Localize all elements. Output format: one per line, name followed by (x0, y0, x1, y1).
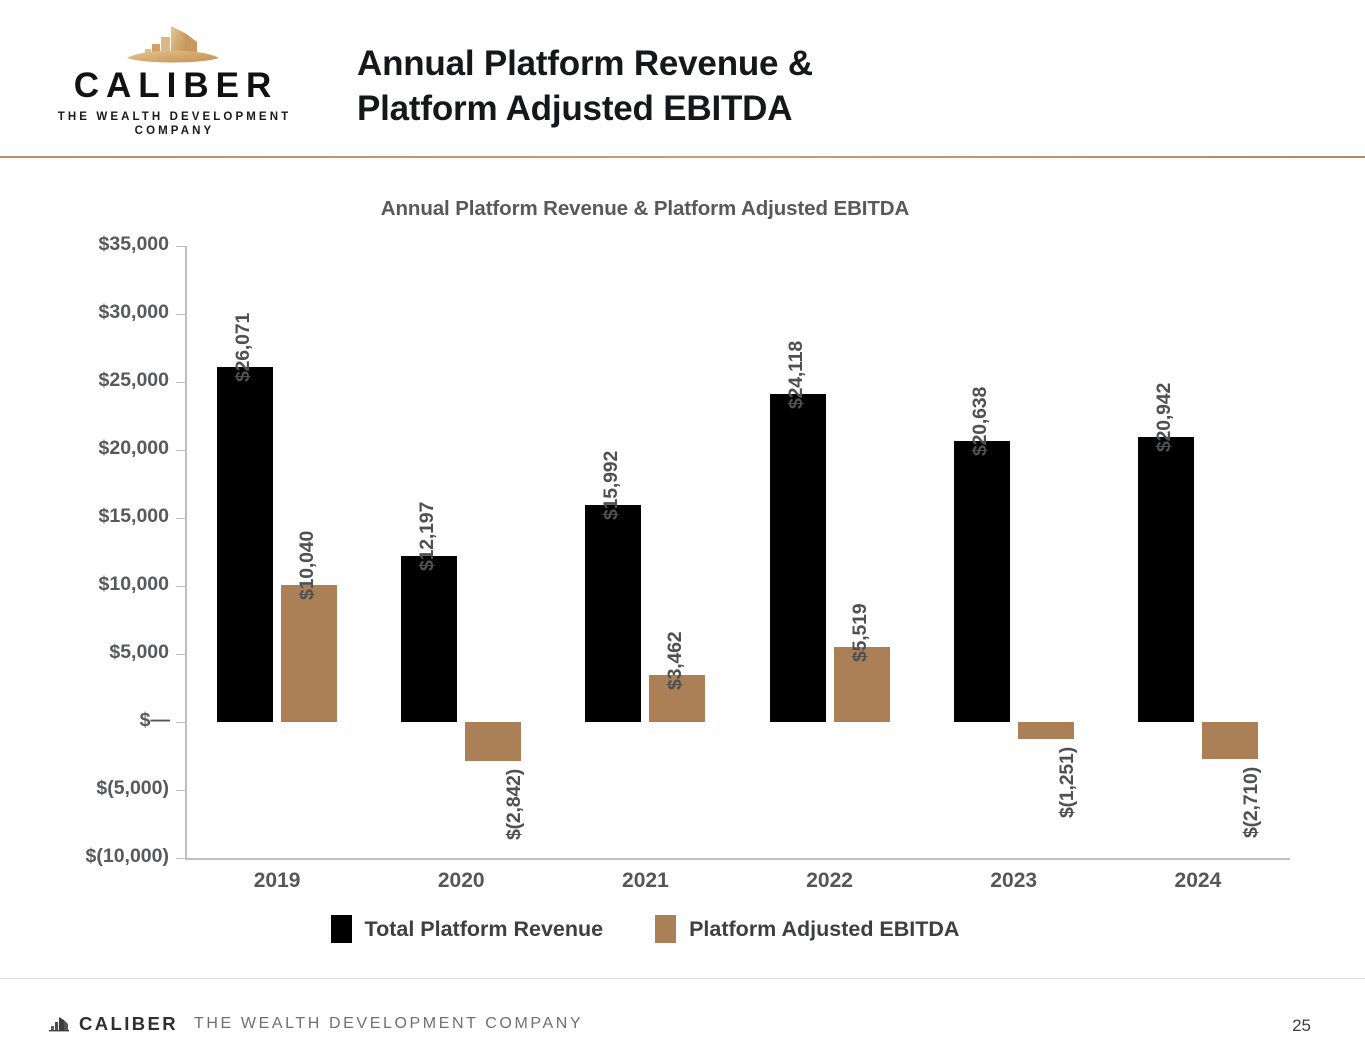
bar-2023-ebitda[interactable] (1018, 722, 1074, 739)
building-skyline-icon (48, 22, 298, 68)
legend-item-ebitda[interactable]: Platform Adjusted EBITDA (655, 915, 959, 943)
legend-label: Platform Adjusted EBITDA (689, 917, 959, 942)
legend-item-revenue[interactable]: Total Platform Revenue (331, 915, 604, 943)
bar-2021-revenue[interactable] (585, 505, 641, 722)
legend-label: Total Platform Revenue (365, 917, 604, 942)
slide-footer: CALIBER THE WEALTH DEVELOPMENT COMPANY 2… (0, 979, 1365, 1055)
bar-2019-revenue[interactable] (217, 367, 273, 722)
legend-swatch-icon (655, 915, 676, 943)
x-axis-tick-label-2024: 2024 (1106, 869, 1290, 893)
chart-container: Annual Platform Revenue & Platform Adjus… (0, 157, 1365, 975)
y-axis-tick-label: $25,000 (39, 369, 169, 392)
y-axis-tick-label: $35,000 (39, 233, 169, 256)
x-axis-tick-label-2021: 2021 (553, 869, 737, 893)
y-axis-tick (176, 518, 186, 519)
slide-header: CALIBER THE WEALTH DEVELOPMENT COMPANY A… (0, 0, 1365, 157)
bar-value-label: $(2,842) (503, 769, 526, 840)
brand-tagline-line2: COMPANY (48, 125, 298, 137)
x-axis-tick-label-2023: 2023 (922, 869, 1106, 893)
chart-title: Annual Platform Revenue & Platform Adjus… (0, 197, 1290, 221)
y-axis-tick-label: $5,000 (39, 641, 169, 664)
bar-value-label: $(1,251) (1056, 747, 1079, 818)
y-axis-tick (176, 382, 186, 383)
bar-2019-ebitda[interactable] (281, 585, 337, 722)
bar-2024-revenue[interactable] (1138, 437, 1194, 722)
x-axis-tick-label-2020: 2020 (369, 869, 553, 893)
slide: CALIBER THE WEALTH DEVELOPMENT COMPANY A… (0, 0, 1365, 1055)
y-axis-tick-label: $(10,000) (39, 845, 169, 868)
bar-value-label: $15,992 (600, 450, 623, 519)
bar-value-label: $20,638 (969, 387, 992, 456)
y-axis-line (185, 246, 187, 859)
y-axis-tick (176, 450, 186, 451)
bar-value-label: $10,040 (296, 531, 319, 600)
bar-value-label: $24,118 (785, 341, 808, 409)
x-axis-tick-label-2022: 2022 (738, 869, 922, 893)
x-axis-tick-label-2019: 2019 (185, 869, 369, 893)
page-title-line2: Platform Adjusted EBITDA (357, 87, 813, 132)
footer-tagline: THE WEALTH DEVELOPMENT COMPANY (194, 1015, 583, 1033)
bar-value-label: $5,519 (849, 603, 872, 661)
page-number: 25 (1292, 1016, 1311, 1036)
y-axis-tick-label: $(5,000) (39, 777, 169, 800)
bar-2022-revenue[interactable] (770, 394, 826, 722)
building-skyline-icon (48, 1016, 70, 1033)
footer-brand: CALIBER THE WEALTH DEVELOPMENT COMPANY (48, 1013, 583, 1035)
y-axis-tick-label: $20,000 (39, 437, 169, 460)
y-axis-tick (176, 314, 186, 315)
chart-legend: Total Platform RevenuePlatform Adjusted … (0, 915, 1290, 943)
y-axis-tick (176, 790, 186, 791)
y-axis-tick-label: $10,000 (39, 573, 169, 596)
y-axis-tick (176, 246, 186, 247)
bar-2020-revenue[interactable] (401, 556, 457, 722)
y-axis-tick-label: $30,000 (39, 301, 169, 324)
bar-2024-ebitda[interactable] (1202, 722, 1258, 759)
x-axis-line (185, 858, 1290, 860)
bar-value-label: $20,942 (1153, 383, 1176, 452)
page-title: Annual Platform Revenue & Platform Adjus… (357, 42, 813, 132)
brand-wordmark: CALIBER (48, 68, 298, 105)
page-title-line1: Annual Platform Revenue & (357, 42, 813, 87)
bar-value-label: $3,462 (664, 631, 687, 689)
footer-brand-name: CALIBER (79, 1013, 178, 1035)
brand-tagline-line1: THE WEALTH DEVELOPMENT (48, 111, 298, 123)
y-axis-tick (176, 654, 186, 655)
bar-value-label: $26,071 (232, 313, 255, 382)
y-axis-tick (176, 586, 186, 587)
bar-value-label: $(2,710) (1240, 767, 1263, 838)
y-axis-tick-label: $15,000 (39, 505, 169, 528)
y-axis-tick (176, 858, 186, 859)
y-axis-tick-label: $— (39, 709, 169, 732)
bar-2020-ebitda[interactable] (465, 722, 521, 761)
y-axis-tick (176, 722, 186, 723)
bar-2023-revenue[interactable] (954, 441, 1010, 722)
legend-swatch-icon (331, 915, 352, 943)
brand-logo: CALIBER THE WEALTH DEVELOPMENT COMPANY (48, 22, 298, 137)
bar-value-label: $12,197 (416, 502, 439, 571)
